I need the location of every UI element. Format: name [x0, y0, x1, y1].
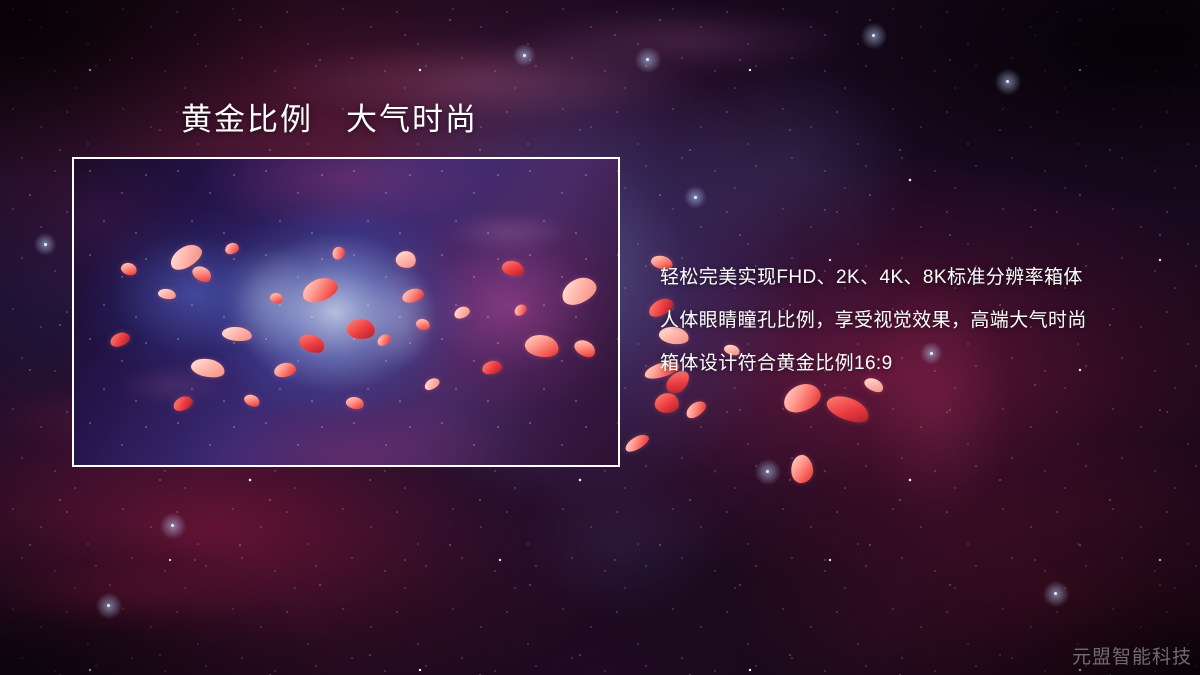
- framed-nebula-image: [74, 159, 618, 465]
- slide-title: 黄金比例 大气时尚: [181, 101, 478, 139]
- framed-starfield: [74, 159, 618, 465]
- body-line-1: 轻松完美实现FHD、2K、4K、8K标准分辨率箱体: [660, 256, 1160, 299]
- body-line-3: 箱体设计符合黄金比例16:9: [660, 342, 1160, 385]
- body-paragraph: 轻松完美实现FHD、2K、4K、8K标准分辨率箱体 人体眼睛瞳孔比例，享受视觉效…: [660, 256, 1160, 385]
- slide-canvas: 黄金比例 大气时尚: [0, 0, 1200, 675]
- nebula-photo-frame: [72, 157, 620, 467]
- company-watermark: 元盟智能科技: [1072, 642, 1192, 669]
- body-line-2: 人体眼睛瞳孔比例，享受视觉效果，高端大气时尚: [660, 299, 1160, 342]
